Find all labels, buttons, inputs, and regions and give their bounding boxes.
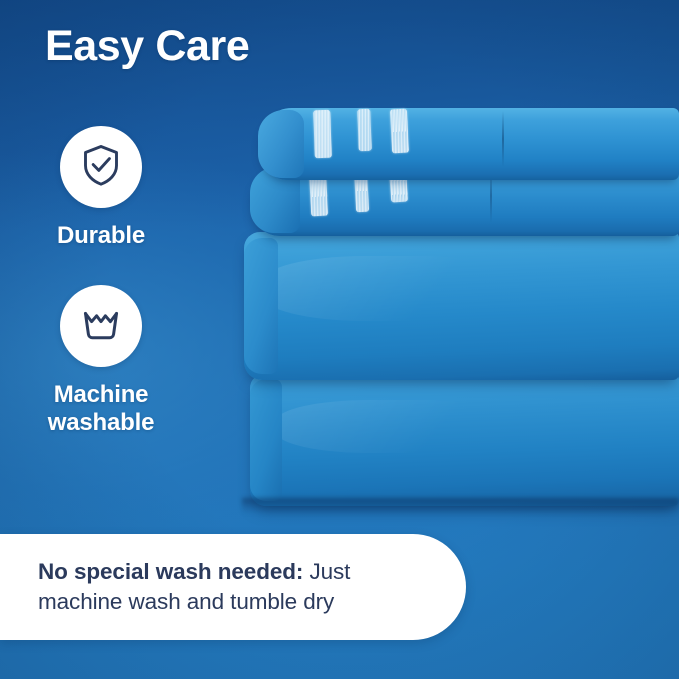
page-title: Easy Care	[45, 22, 249, 71]
rolled-pillowcase-top	[258, 108, 679, 180]
fabric-crease	[261, 256, 522, 321]
feature-machine-washable-badge	[60, 285, 142, 367]
caption-text: No special wash needed: Just machine was…	[0, 557, 466, 617]
feature-machine-washable-label: Machine washable	[3, 381, 199, 437]
caption-bold-text: No special wash needed:	[38, 559, 303, 584]
product-photo-sheet-stack	[236, 86, 679, 526]
stack-drop-shadow	[242, 498, 679, 514]
caption-banner: No special wash needed: Just machine was…	[0, 534, 466, 640]
folded-sheet-bottom	[250, 374, 679, 506]
shield-check-icon	[77, 141, 125, 194]
embroidered-trim-band	[313, 110, 332, 159]
feature-durable: Durable	[3, 126, 199, 250]
product-infographic: Easy Care Durable Machine washable	[0, 0, 679, 679]
embroidered-trim-band	[390, 109, 409, 154]
folded-sheet-bottom-edge	[250, 379, 282, 501]
feature-durable-label: Durable	[3, 222, 199, 250]
folded-sheet-middle	[244, 232, 679, 380]
wash-tub-icon	[76, 299, 126, 354]
fabric-crease	[276, 400, 512, 453]
feature-machine-washable: Machine washable	[3, 285, 199, 437]
folded-sheet-middle-edge	[244, 238, 278, 374]
feature-durable-badge	[60, 126, 142, 208]
folded-sheet-bottom-body	[250, 374, 679, 506]
fabric-seam	[502, 111, 504, 167]
folded-sheet-middle-body	[244, 232, 679, 380]
embroidered-trim-band	[357, 109, 371, 151]
rolled-pillowcase-top-end	[258, 110, 304, 178]
